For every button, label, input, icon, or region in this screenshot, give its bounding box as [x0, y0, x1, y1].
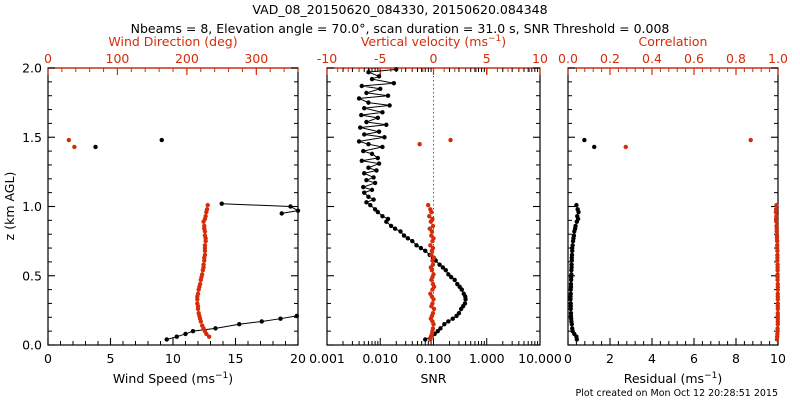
data-point: [370, 152, 374, 156]
data-point: [361, 185, 365, 189]
data-point: [183, 332, 187, 336]
data-point: [452, 278, 456, 282]
data-point: [380, 214, 384, 218]
data-point: [237, 322, 241, 326]
data-point: [569, 301, 573, 305]
data-point: [364, 91, 368, 95]
data-point: [380, 110, 384, 114]
y-tick-label: 1.5: [22, 130, 42, 145]
data-point: [592, 145, 596, 149]
data-point: [442, 322, 446, 326]
data-point: [201, 262, 205, 266]
data-point: [371, 197, 375, 201]
data-point: [203, 253, 207, 257]
data-point: [431, 282, 435, 286]
data-point: [377, 130, 381, 134]
data-point: [361, 149, 365, 153]
data-point: [278, 316, 282, 320]
data-point: [377, 74, 381, 78]
data-point: [570, 243, 574, 247]
data-point: [414, 243, 418, 247]
data-point: [574, 203, 578, 207]
x-tick-label: 10: [770, 351, 786, 366]
data-point: [200, 272, 204, 276]
data-point: [200, 323, 204, 327]
data-point: [582, 138, 586, 142]
data-point: [428, 292, 432, 296]
data-point: [160, 138, 164, 142]
data-point: [366, 195, 370, 199]
data-point: [569, 262, 573, 266]
data-point: [364, 178, 368, 182]
x-tick-label: 0: [564, 351, 572, 366]
data-point: [175, 334, 179, 338]
top-tick-label: 0: [430, 51, 438, 66]
figure-title: VAD_08_20150620_084330, 20150620.084348: [252, 2, 547, 17]
data-point: [220, 202, 224, 206]
data-point: [359, 113, 363, 117]
data-point: [570, 326, 574, 330]
top-tick-label: 300: [244, 51, 268, 66]
top-axis-title: Wind Direction (deg): [108, 34, 237, 49]
data-point: [387, 103, 391, 107]
data-point: [776, 301, 780, 305]
data-point: [446, 319, 450, 323]
data-point: [428, 207, 432, 211]
plot-created-footer: Plot created on Mon Oct 12 20:28:51 2015: [576, 388, 778, 399]
data-point: [406, 236, 410, 240]
data-point: [165, 337, 169, 341]
data-point: [373, 181, 377, 185]
x-tick-label: 0.001: [309, 351, 345, 366]
data-point: [386, 94, 390, 98]
data-point: [775, 253, 779, 257]
data-point: [358, 125, 362, 129]
top-tick-label: 200: [175, 51, 199, 66]
data-point: [419, 246, 423, 250]
data-point: [357, 96, 361, 100]
data-point: [438, 326, 442, 330]
data-point: [72, 145, 76, 149]
data-point: [423, 337, 427, 341]
figure-canvas: VAD_08_20150620_084330, 20150620.084348 …: [0, 0, 800, 400]
data-point: [362, 171, 366, 175]
data-point: [423, 249, 427, 253]
data-point: [749, 138, 753, 142]
data-point: [203, 214, 207, 218]
x-tick-label: 6: [690, 351, 698, 366]
data-point: [569, 272, 573, 276]
data-point: [280, 211, 284, 215]
data-point: [366, 100, 370, 104]
data-point: [575, 214, 579, 218]
data-point: [429, 253, 433, 257]
data-point: [357, 139, 361, 143]
data-point: [206, 203, 210, 207]
data-point: [366, 142, 370, 146]
x-tick-label: 0.010: [362, 351, 398, 366]
data-point: [624, 145, 628, 149]
data-point: [366, 70, 370, 74]
top-tick-label: -10: [317, 51, 337, 66]
data-point: [776, 311, 780, 315]
data-point: [195, 301, 199, 305]
data-point: [392, 81, 396, 85]
data-point: [570, 253, 574, 257]
data-point: [360, 159, 364, 163]
data-point: [203, 243, 207, 247]
x-tick-label: 8: [732, 351, 740, 366]
y-axis-label: z (km AGL): [2, 172, 17, 241]
data-point: [427, 214, 431, 218]
data-point: [380, 145, 384, 149]
data-point: [376, 156, 380, 160]
data-point: [373, 207, 377, 211]
x-tick-label: 10.000: [518, 351, 562, 366]
data-point: [410, 239, 414, 243]
data-point: [437, 262, 441, 266]
top-tick-label: 10: [532, 51, 548, 66]
data-point: [205, 207, 209, 211]
top-tick-label: 0: [44, 51, 52, 66]
data-point: [377, 161, 381, 165]
data-point: [569, 292, 573, 296]
data-point: [203, 233, 207, 237]
y-tick-label: 1.0: [22, 199, 42, 214]
data-point: [775, 233, 779, 237]
data-point: [368, 203, 372, 207]
data-point: [370, 188, 374, 192]
top-tick-label: 100: [106, 51, 130, 66]
data-point: [371, 175, 375, 179]
y-tick-label: 0.0: [22, 338, 42, 353]
data-point: [774, 203, 778, 207]
data-point: [360, 84, 364, 88]
data-point: [431, 326, 435, 330]
data-point: [398, 229, 402, 233]
data-point: [431, 272, 435, 276]
top-tick-label: 0.4: [642, 51, 662, 66]
data-point: [384, 123, 388, 127]
data-point: [431, 311, 435, 315]
data-point: [362, 132, 366, 136]
data-point: [428, 243, 432, 247]
top-tick-label: 0.0: [558, 51, 578, 66]
data-point: [374, 168, 378, 172]
data-point: [376, 116, 380, 120]
data-point: [775, 262, 779, 266]
data-point: [295, 314, 299, 318]
y-tick-label: 0.5: [22, 268, 42, 283]
data-point: [463, 301, 467, 305]
x-axis-title: SNR: [421, 371, 447, 386]
data-point: [451, 316, 455, 320]
top-axis-title: Correlation: [639, 34, 708, 49]
data-point: [366, 166, 370, 170]
x-tick-label: 0: [44, 351, 52, 366]
data-point: [393, 226, 397, 230]
data-point: [775, 326, 779, 330]
data-point: [364, 120, 368, 124]
x-tick-label: 1.000: [469, 351, 505, 366]
top-tick-label: 0.6: [684, 51, 704, 66]
data-point: [462, 292, 466, 296]
data-point: [402, 233, 406, 237]
data-point: [455, 282, 459, 286]
data-point: [260, 319, 264, 323]
data-point: [213, 326, 217, 330]
data-point: [196, 311, 200, 315]
x-tick-label: 15: [228, 351, 244, 366]
top-tick-label: 0.2: [600, 51, 620, 66]
data-point: [569, 282, 573, 286]
data-point: [426, 203, 430, 207]
x-tick-label: 2: [606, 351, 614, 366]
data-point: [362, 190, 366, 194]
data-point: [288, 204, 292, 208]
data-point: [394, 67, 398, 71]
data-point: [417, 142, 421, 146]
data-point: [572, 233, 576, 237]
data-point: [430, 301, 434, 305]
x-tick-label: 4: [648, 351, 656, 366]
data-point: [364, 200, 368, 204]
top-tick-label: -5: [374, 51, 386, 66]
top-axis-title: Vertical velocity (ms−1): [361, 34, 506, 49]
data-point: [774, 214, 778, 218]
data-point: [429, 233, 433, 237]
data-point: [378, 87, 382, 91]
data-point: [776, 292, 780, 296]
vad-plot-figure: VAD_08_20150620_084330, 20150620.084348 …: [0, 0, 800, 400]
data-point: [202, 224, 206, 228]
data-point: [569, 311, 573, 315]
x-tick-label: 5: [107, 351, 115, 366]
data-point: [457, 311, 461, 315]
data-point: [198, 282, 202, 286]
x-tick-label: 20: [290, 351, 306, 366]
x-tick-label: 0.100: [416, 351, 452, 366]
data-point: [362, 106, 366, 110]
data-point: [431, 224, 435, 228]
data-point: [774, 224, 778, 228]
data-point: [776, 282, 780, 286]
data-point: [370, 77, 374, 81]
top-tick-label: 0.8: [726, 51, 746, 66]
data-point: [775, 243, 779, 247]
data-point: [575, 207, 579, 211]
data-point: [431, 262, 435, 266]
data-point: [93, 145, 97, 149]
data-point: [296, 208, 300, 212]
top-tick-label: 1.0: [768, 51, 788, 66]
data-point: [386, 217, 390, 221]
data-point: [446, 272, 450, 276]
top-tick-label: 5: [483, 51, 491, 66]
data-point: [191, 329, 195, 333]
data-point: [573, 224, 577, 228]
data-point: [774, 207, 778, 211]
data-point: [67, 138, 71, 142]
data-point: [775, 272, 779, 276]
data-point: [196, 292, 200, 296]
x-tick-label: 10: [165, 351, 181, 366]
data-point: [389, 224, 393, 228]
y-tick-label: 2.0: [22, 61, 42, 76]
data-point: [448, 138, 452, 142]
data-point: [382, 135, 386, 139]
